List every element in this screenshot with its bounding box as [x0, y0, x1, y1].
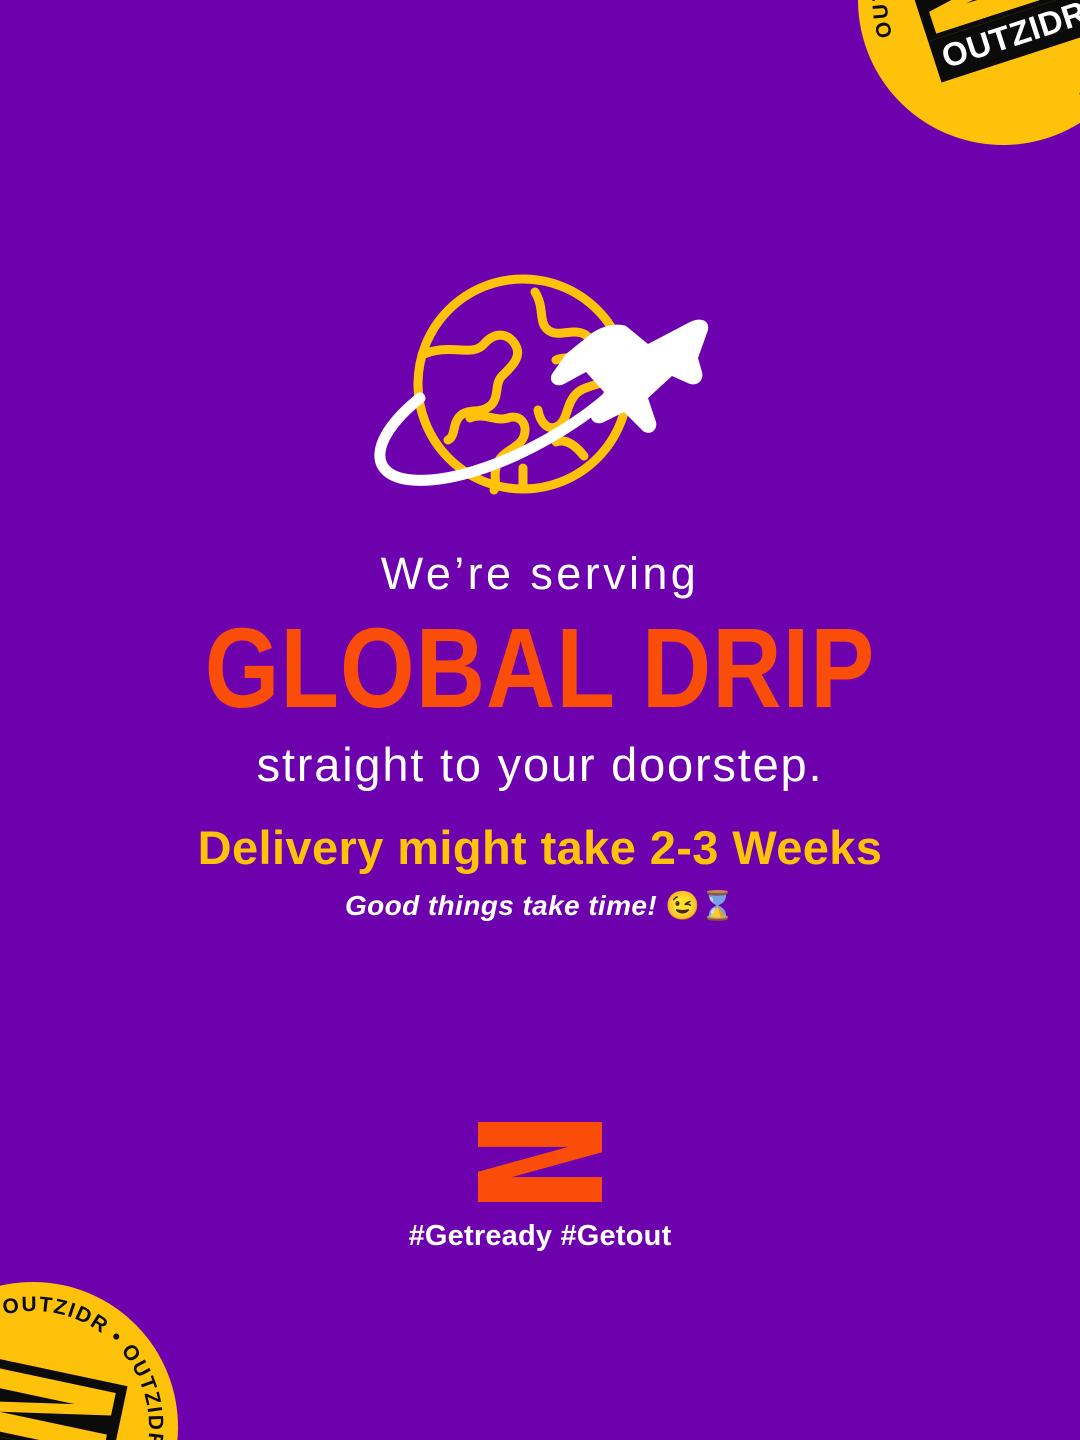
brand-seal-top-right: OUTZIDR • OUTZIDR • OUTZIDR • OUTZIDR • …	[820, 0, 1080, 183]
brand-seal-bottom-left: OUTZIDR • OUTZIDR • OUTZIDR • OUTZIDR • …	[0, 1255, 205, 1440]
delivery-note-text: Good things take time!	[345, 890, 657, 921]
hashtags-text: #Getready #Getout	[0, 1220, 1080, 1253]
globe-airplane-artwork	[360, 272, 720, 502]
delivery-note: Good things take time! 😉⌛	[0, 889, 1080, 923]
subline-text: straight to your doorstep.	[0, 738, 1080, 793]
promo-poster: { "theme": { "background": "#6D01AD", "a…	[0, 0, 1080, 1440]
wink-hourglass-emoji: 😉⌛	[665, 890, 735, 921]
delivery-notice: Delivery might take 2-3 Weeks Good thing…	[0, 820, 1080, 923]
eyebrow-text: We’re serving	[0, 548, 1080, 600]
headline-block: We’re serving GLOBAL DRIP straight to yo…	[0, 548, 1080, 792]
hero-illustration	[0, 272, 1080, 502]
footer-lockup: #Getready #Getout	[0, 1122, 1080, 1253]
page-title: GLOBAL DRIP	[0, 608, 1080, 730]
globe-icon	[418, 279, 628, 490]
delivery-time-text: Delivery might take 2-3 Weeks	[0, 820, 1080, 875]
z-logo-icon	[478, 1122, 602, 1202]
